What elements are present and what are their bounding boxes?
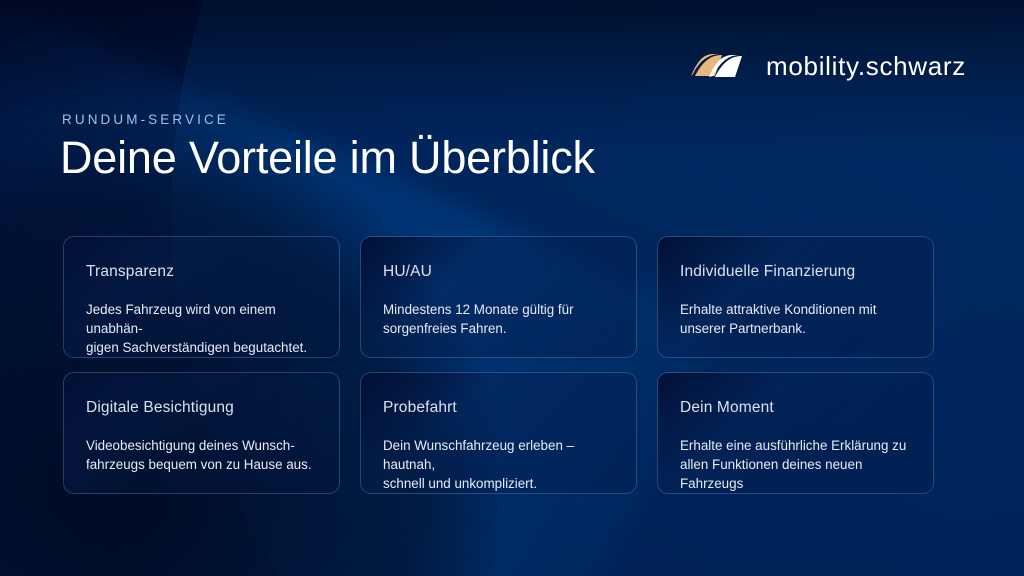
benefit-card-hu-au[interactable]: HU/AU Mindestens 12 Monate gültig für so… — [360, 236, 637, 358]
card-title: HU/AU — [383, 263, 614, 281]
benefit-card-individuelle-finanzierung[interactable]: Individuelle Finanzierung Erhalte attrak… — [657, 236, 934, 358]
card-body: Videobesichtigung deines Wunsch- fahrzeu… — [86, 436, 317, 474]
brand-logo[interactable]: mobility.schwarz — [691, 50, 966, 82]
mobility-schwarz-swoosh-logo-icon — [691, 50, 747, 82]
card-body: Erhalte eine ausführliche Erklärung zu a… — [680, 436, 911, 494]
card-title: Transparenz — [86, 263, 317, 281]
benefit-card-probefahrt[interactable]: Probefahrt Dein Wunschfahrzeug erleben –… — [360, 372, 637, 494]
card-title: Digitale Besichtigung — [86, 399, 317, 417]
card-body: Mindestens 12 Monate gültig für sorgenfr… — [383, 300, 614, 338]
card-body: Erhalte attraktive Konditionen mit unser… — [680, 300, 911, 338]
card-body: Jedes Fahrzeug wird von einem unabhän- g… — [86, 300, 317, 357]
card-body: Dein Wunschfahrzeug erleben – hautnah, s… — [383, 436, 614, 493]
card-title: Individuelle Finanzierung — [680, 263, 911, 281]
page-title: Deine Vorteile im Überblick — [60, 131, 595, 186]
brand-name: mobility.schwarz — [766, 51, 966, 82]
benefit-card-grid: Transparenz Jedes Fahrzeug wird von eine… — [63, 236, 935, 494]
eyebrow-label: RUNDUM-SERVICE — [62, 112, 229, 127]
benefit-card-digitale-besichtigung[interactable]: Digitale Besichtigung Videobesichtigung … — [63, 372, 340, 494]
card-title: Probefahrt — [383, 399, 614, 417]
card-title: Dein Moment — [680, 399, 911, 417]
benefit-card-transparenz[interactable]: Transparenz Jedes Fahrzeug wird von eine… — [63, 236, 340, 358]
slide-root: mobility.schwarz RUNDUM-SERVICE Deine Vo… — [0, 0, 1024, 576]
benefit-card-dein-moment[interactable]: Dein Moment Erhalte eine ausführliche Er… — [657, 372, 934, 494]
